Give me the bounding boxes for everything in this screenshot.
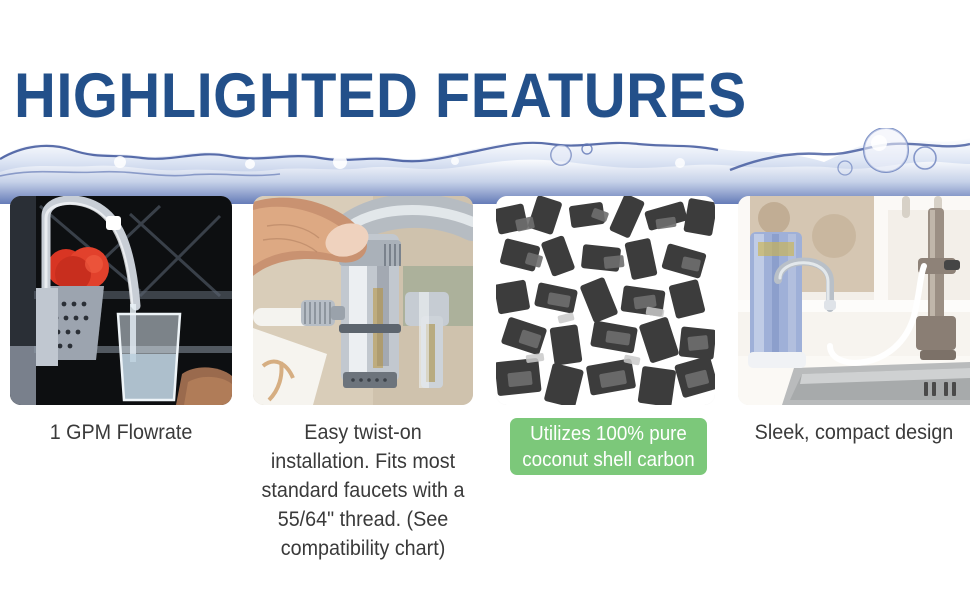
feature-caption-carbon-text: Utilizes 100% pure coconut shell carbon bbox=[516, 421, 701, 473]
feature-image-carbon bbox=[496, 196, 715, 405]
water-splash-decoration bbox=[0, 128, 970, 204]
feature-caption-installation: Easy twist-on installation. Fits most st… bbox=[255, 418, 471, 563]
feature-caption-design: Sleek, compact design bbox=[745, 418, 963, 447]
highlighted-features-banner: HIGHLIGHTED FEATURES bbox=[0, 0, 970, 600]
feature-image-design bbox=[738, 196, 970, 405]
feature-image-flowrate bbox=[10, 196, 232, 405]
feature-image-installation bbox=[253, 196, 473, 405]
feature-caption-carbon-highlight: Utilizes 100% pure coconut shell carbon bbox=[510, 418, 707, 475]
feature-image-row bbox=[0, 196, 970, 406]
feature-caption-flowrate: 1 GPM Flowrate bbox=[17, 418, 226, 447]
page-title: HIGHLIGHTED FEATURES bbox=[14, 62, 747, 130]
